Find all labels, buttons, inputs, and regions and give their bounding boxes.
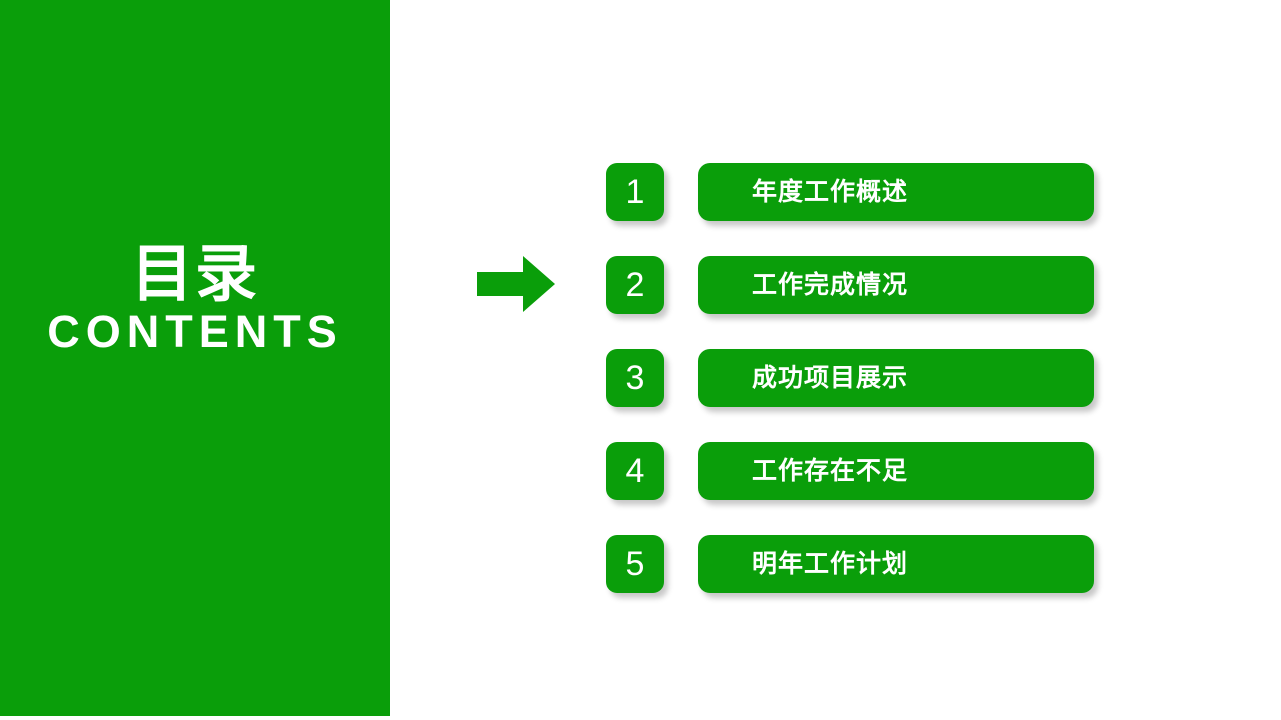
item-label: 工作存在不足	[752, 442, 908, 500]
item-label-bar[interactable]: 年度工作概述	[698, 163, 1094, 221]
list-item[interactable]: 5 明年工作计划	[606, 535, 1096, 593]
item-label-bar[interactable]: 工作存在不足	[698, 442, 1094, 500]
item-label: 明年工作计划	[752, 535, 908, 593]
item-label-bar[interactable]: 成功项目展示	[698, 349, 1094, 407]
slide-contents: 目录 CONTENTS 1 年度工作概述 2 工作完成情况 3 成功项目展示	[0, 0, 1281, 720]
item-label-bar[interactable]: 工作完成情况	[698, 256, 1094, 314]
item-label: 年度工作概述	[752, 163, 908, 221]
item-number-badge: 2	[606, 256, 664, 314]
list-item[interactable]: 4 工作存在不足	[606, 442, 1096, 500]
list-item[interactable]: 3 成功项目展示	[606, 349, 1096, 407]
item-label: 成功项目展示	[752, 349, 908, 407]
list-item[interactable]: 1 年度工作概述	[606, 163, 1096, 221]
item-label: 工作完成情况	[752, 256, 908, 314]
item-number-badge: 3	[606, 349, 664, 407]
contents-list: 1 年度工作概述 2 工作完成情况 3 成功项目展示 4 工作存在不足 5	[0, 0, 1281, 720]
item-number-badge: 1	[606, 163, 664, 221]
list-item[interactable]: 2 工作完成情况	[606, 256, 1096, 314]
item-number-badge: 4	[606, 442, 664, 500]
item-label-bar[interactable]: 明年工作计划	[698, 535, 1094, 593]
item-number-badge: 5	[606, 535, 664, 593]
